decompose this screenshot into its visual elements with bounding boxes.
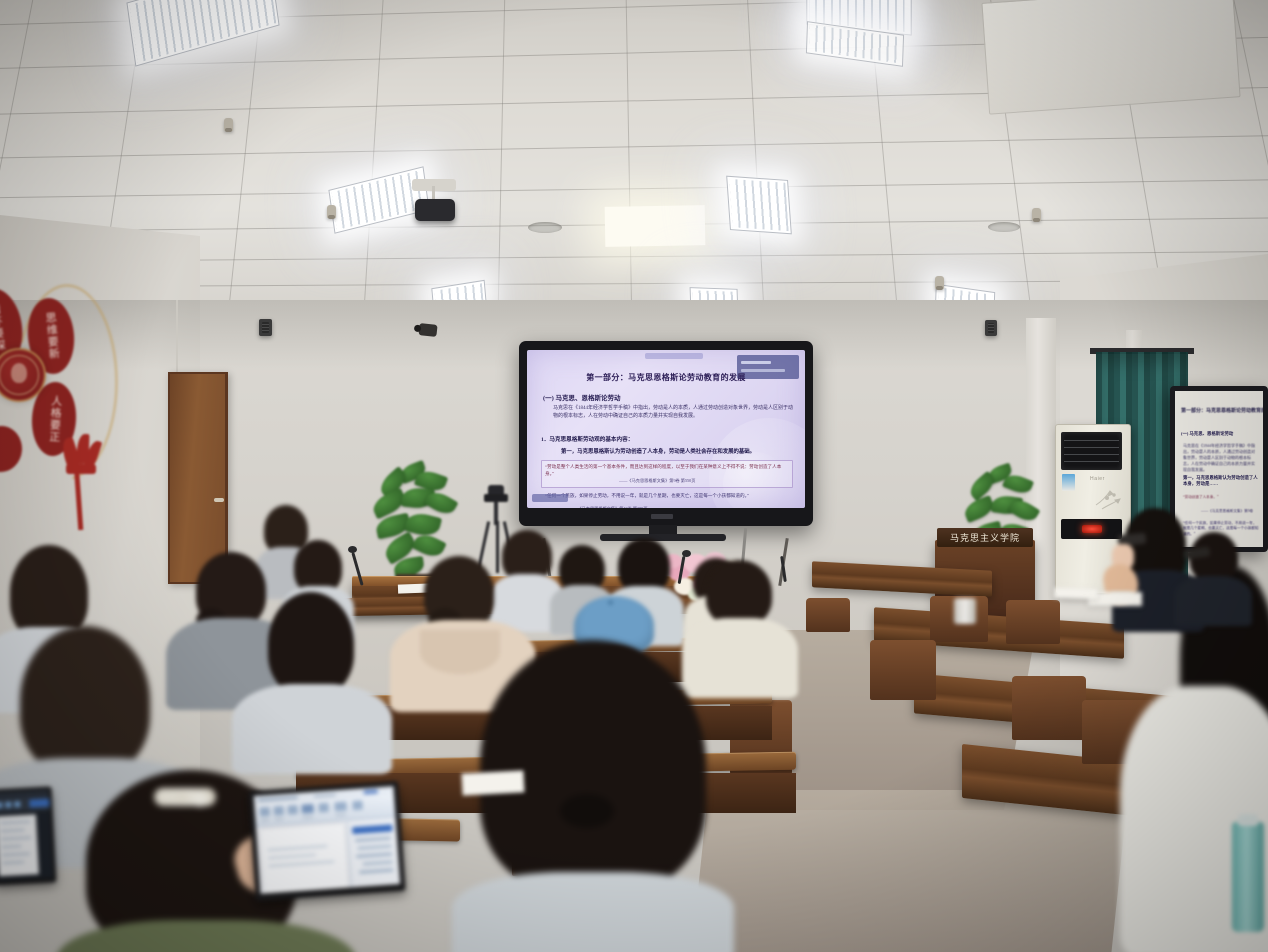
slide-footer-button[interactable] xyxy=(532,494,568,502)
air-conditioner-led-readout xyxy=(1082,525,1102,533)
wall-oval-2-label: 思维要新 xyxy=(43,312,59,361)
presentation-slide: 第一部分：马克思恩格斯论劳动教育的发展 (一) 马克思、恩格斯论劳动 马克思在《… xyxy=(527,350,805,508)
slide-bold-line-2: 第一，马克思恩格斯认为劳动创造了人本身，劳动是人类社会存在和发展的基础。 xyxy=(561,447,755,455)
ceiling-light xyxy=(328,166,429,234)
smoke-detector xyxy=(224,118,233,131)
lectern-nameplate-text: 马克思主义学院 xyxy=(950,531,1020,544)
side-slide-quote-source: ——《马克思恩格斯文集》第9卷 xyxy=(1201,509,1261,514)
ceiling-light xyxy=(726,176,792,235)
lecture-hall-photo: 情怀要深 思维要新 人格要正 xyxy=(0,0,1268,952)
microphone-head xyxy=(348,546,357,553)
laptop-center-screen[interactable] xyxy=(254,786,400,894)
wall-oval-1-label: 情怀要深 xyxy=(0,303,5,352)
lectern-nameplate: 马克思主义学院 xyxy=(937,528,1033,547)
surveillance-camera xyxy=(418,323,437,337)
ceiling-duct-panel xyxy=(981,0,1240,115)
slide-quote-2: “任何一个民族，如果停止劳动，不用说一年，就是几个星期，也要灭亡，这是每一个小孩… xyxy=(545,492,787,499)
display-brand-logo xyxy=(651,514,673,519)
side-slide-section: (一) 马克思、恩格斯论劳动 xyxy=(1181,431,1233,437)
chair[interactable] xyxy=(1012,676,1086,740)
handout-paper xyxy=(1054,587,1098,600)
wall-speaker xyxy=(259,319,272,336)
floor xyxy=(691,790,1128,952)
wall-oval-3-label: 人格要正 xyxy=(47,395,61,444)
smoke-detector xyxy=(327,205,336,218)
water-glass[interactable] xyxy=(954,598,976,624)
slide-section-label: (一) 马克思、恩格斯论劳动 xyxy=(543,392,620,402)
side-slide-body: 马克思在《1844年经济学哲学手稿》中指出，劳动是人的本质，人通过劳动创造对象世… xyxy=(1183,443,1257,473)
slide-quote-2-source: ——《马克思恩格斯文集》第10卷 第289页 xyxy=(569,506,648,508)
smoke-detector xyxy=(1032,208,1041,221)
air-conditioner-brand: Haier xyxy=(1090,476,1105,482)
ceiling-vent xyxy=(528,222,562,233)
slide-bold-line-1: 1．马克思恩格斯劳动观的基本内容： xyxy=(541,435,633,443)
side-slide-quote: “劳动创造了人本身。” xyxy=(1183,495,1259,500)
audience-member-center-front xyxy=(452,640,732,952)
wall-speaker xyxy=(985,320,997,336)
ceiling-vent xyxy=(988,222,1020,232)
chair[interactable] xyxy=(806,598,850,632)
chair[interactable] xyxy=(870,640,936,700)
hair-tie xyxy=(560,794,614,828)
slide-top-tag xyxy=(645,353,703,359)
air-conditioner-grille xyxy=(1061,432,1122,470)
audience-member xyxy=(246,592,376,762)
main-display[interactable]: 第一部分：马克思恩格斯论劳动教育的发展 (一) 马克思、恩格斯论劳动 马克思在《… xyxy=(519,341,813,526)
wall-culture-decal: 情怀要深 思维要新 人格要正 xyxy=(0,276,136,526)
wall-oval-4 xyxy=(0,425,24,474)
laptop-left[interactable] xyxy=(0,786,56,885)
water-bottle[interactable] xyxy=(1232,822,1264,932)
side-slide-bold: 第一，马克思恩格斯认为劳动创造了人本身，劳动是…… xyxy=(1183,475,1261,487)
microphone-head xyxy=(682,550,691,557)
projector xyxy=(415,199,455,221)
slide-quote-1: “劳动是整个人类生活的第一个基本条件，而且达到这样的程度，以至于我们在某种意义上… xyxy=(545,463,787,477)
laptop-center[interactable] xyxy=(248,781,405,901)
slide-nav-label xyxy=(741,361,771,364)
slide-paragraph-1: 马克思在《1844年经济学哲学手稿》中指出，劳动是人的本质，人通过劳动创造对象世… xyxy=(553,405,793,420)
smoke-detector xyxy=(935,276,944,289)
laptop-left-screen[interactable] xyxy=(0,790,53,881)
slide-title-text: 第一部分：马克思恩格斯论劳动教育的发展 xyxy=(537,372,795,383)
chair[interactable] xyxy=(1006,600,1060,644)
door-handle[interactable] xyxy=(214,498,224,502)
side-slide-title: 第一部分：马克思恩格斯论劳动教育的发展 xyxy=(1181,407,1259,414)
ceiling-skylight xyxy=(605,205,706,247)
water-bottle-cap[interactable] xyxy=(1238,814,1258,826)
energy-label xyxy=(1062,474,1075,491)
audience-member xyxy=(1178,532,1244,622)
slide-quote-1-source: ——《马克思恩格斯文集》第9卷 第550页 xyxy=(619,478,695,484)
handout-paper xyxy=(461,770,524,795)
